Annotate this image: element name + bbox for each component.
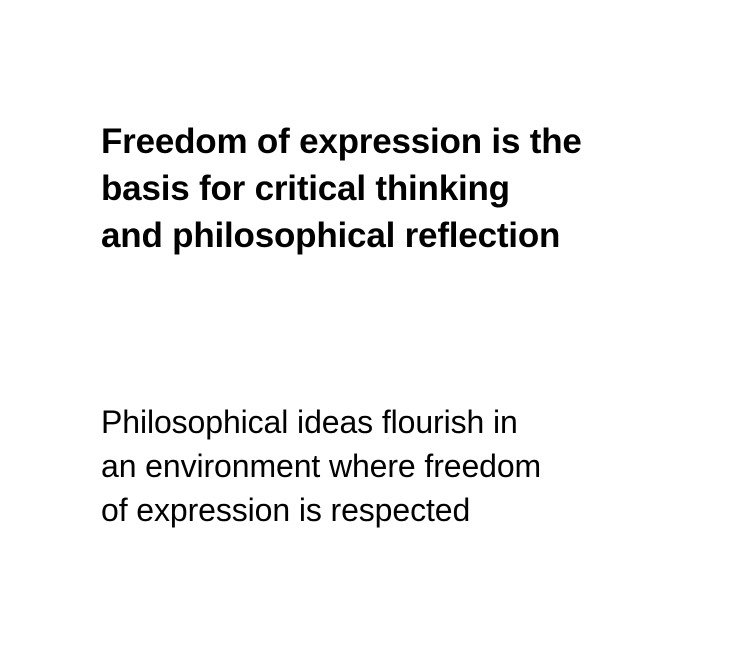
slide-canvas: Freedom of expression is the basis for c… bbox=[0, 0, 750, 650]
headline-block: Freedom of expression is the basis for c… bbox=[101, 118, 653, 259]
body-block: Philosophical ideas flourish in an envir… bbox=[101, 400, 661, 532]
body-paragraph: Philosophical ideas flourish in an envir… bbox=[101, 400, 661, 532]
page-title: Freedom of expression is the basis for c… bbox=[101, 118, 653, 259]
